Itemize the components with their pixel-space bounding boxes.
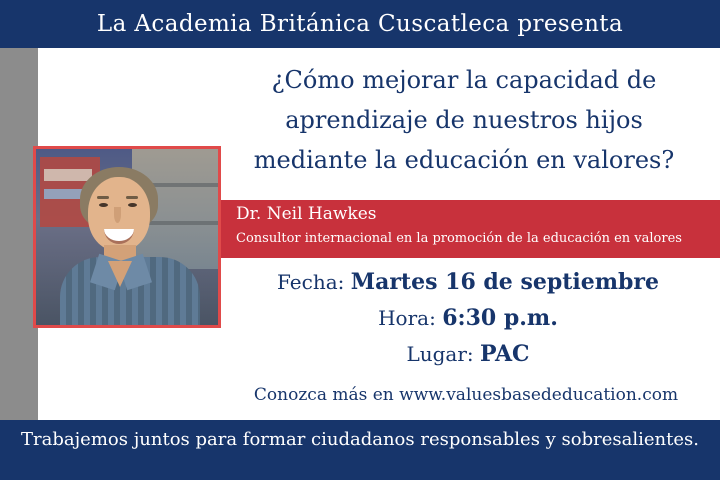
detail-value-hora: 6:30 p.m. <box>442 305 558 331</box>
photo-nose <box>114 207 121 223</box>
photo-eye-right <box>128 203 137 207</box>
speaker-role: Consultor internacional en la promoción … <box>236 231 682 246</box>
headline: ¿Cómo mejorar la capacidad de aprendizaj… <box>224 60 704 180</box>
event-poster: La Academia Británica Cuscatleca present… <box>0 0 720 480</box>
detail-value-lugar: PAC <box>480 341 530 367</box>
website-line: Conozca más en www.valuesbasededucation.… <box>216 385 716 405</box>
speaker-name: Dr. Neil Hawkes <box>236 204 377 224</box>
detail-row: Hora: 6:30 p.m. <box>216 300 720 336</box>
detail-label-hora: Hora: <box>378 306 436 330</box>
top-banner-text: La Academia Británica Cuscatleca present… <box>0 0 720 48</box>
detail-label-lugar: Lugar: <box>406 342 473 366</box>
photo-eyebrow-left <box>97 196 109 199</box>
headline-line-2: aprendizaje de nuestros hijos <box>224 100 704 140</box>
photo-eyebrow-right <box>126 196 138 199</box>
event-details: Fecha: Martes 16 de septiembre Hora: 6:3… <box>216 264 720 372</box>
detail-row: Fecha: Martes 16 de septiembre <box>216 264 720 300</box>
headline-line-1: ¿Cómo mejorar la capacidad de <box>224 60 704 100</box>
bottom-banner-text: Trabajemos juntos para formar ciudadanos… <box>0 420 720 460</box>
photo-eye-left <box>99 203 108 207</box>
speaker-photo <box>36 149 218 325</box>
detail-row: Lugar: PAC <box>216 336 720 372</box>
detail-value-fecha: Martes 16 de septiembre <box>351 269 659 295</box>
speaker-photo-frame <box>33 146 221 328</box>
photo-board-paper <box>44 169 92 181</box>
headline-line-3: mediante la educación en valores? <box>224 140 704 180</box>
detail-label-fecha: Fecha: <box>277 270 344 294</box>
photo-board-paper-2 <box>44 189 84 199</box>
